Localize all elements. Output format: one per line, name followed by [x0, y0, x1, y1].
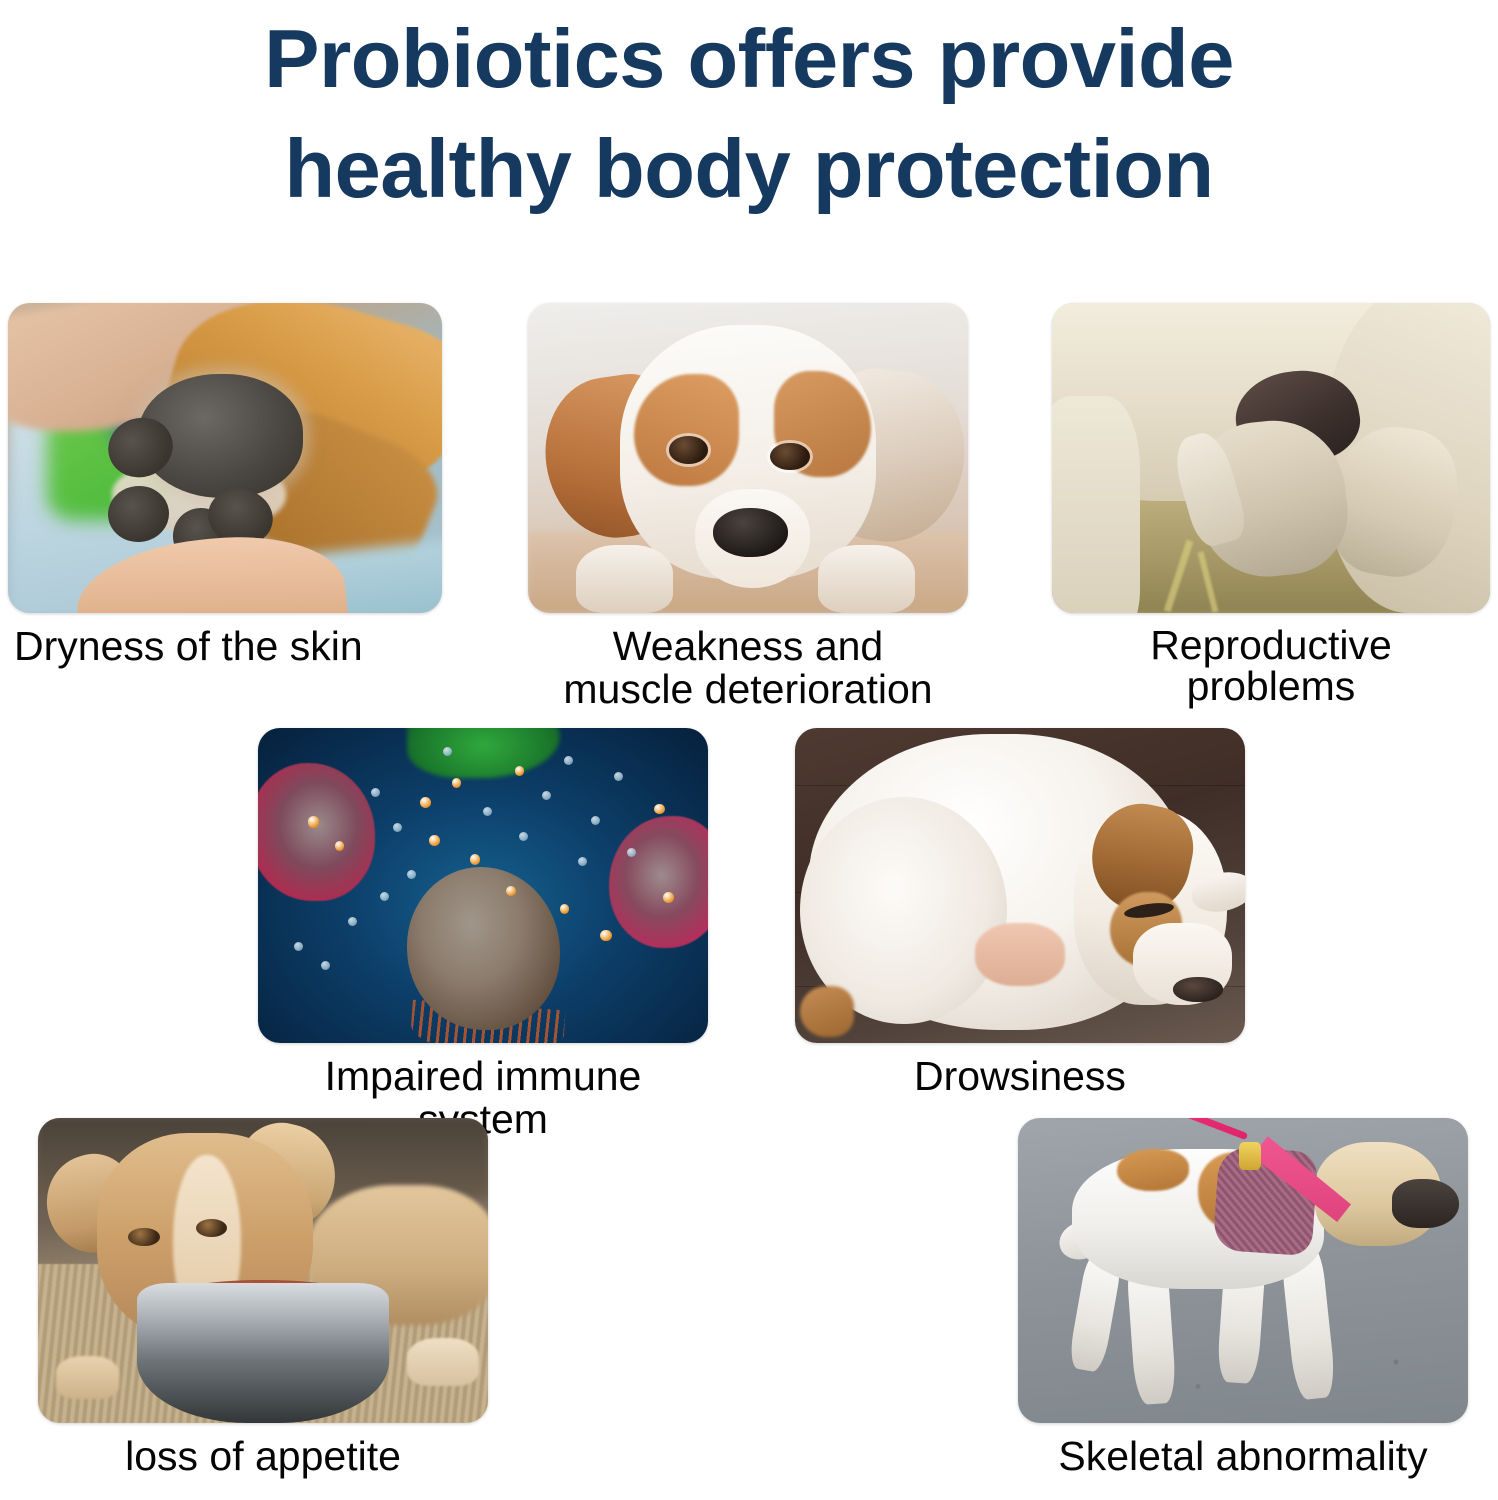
caption-weakness-and-muscle-deterioration: Weakness and muscle deterioration: [563, 625, 932, 712]
page-title-line-2: healthy body protection: [70, 114, 1428, 224]
caption-skeletal-abnormality: Skeletal abnormality: [1058, 1435, 1427, 1478]
caption-drowsiness: Drowsiness: [914, 1055, 1126, 1098]
cell-skeletal-abnormality: Skeletal abnormality: [1018, 1118, 1468, 1478]
cell-dryness-of-the-skin: Dryness of the skin: [8, 303, 442, 668]
cell-drowsiness: Drowsiness: [795, 728, 1245, 1098]
image-sleeping-puppy: [795, 728, 1245, 1043]
caption-reproductive-problems: Reproductive problems: [1150, 625, 1392, 707]
cell-impaired-immune-system: Impaired immune system: [258, 728, 708, 1142]
image-corgi-with-food-bowl: [38, 1118, 488, 1423]
cell-weakness-and-muscle-deterioration: Weakness and muscle deterioration: [528, 303, 968, 712]
page-title-line-1: Probiotics offers provide: [70, 4, 1428, 114]
image-dog-paw-in-hand: [8, 303, 442, 613]
cell-loss-of-appetite: loss of appetite: [38, 1118, 488, 1478]
image-thin-dog-walking-with-harness: [1018, 1118, 1468, 1423]
image-immune-cells-micrograph: [258, 728, 708, 1043]
page-title: Probiotics offers provide healthy body p…: [0, 4, 1498, 223]
image-sad-beagle-lying-down: [528, 303, 968, 613]
image-mother-dog-nursing-puppies: [1052, 303, 1490, 613]
caption-dryness-of-the-skin: Dryness of the skin: [14, 625, 363, 668]
cell-reproductive-problems: Reproductive problems: [1052, 303, 1490, 707]
infographic-root: Probiotics offers provide healthy body p…: [0, 0, 1498, 1500]
caption-loss-of-appetite: loss of appetite: [125, 1435, 401, 1478]
